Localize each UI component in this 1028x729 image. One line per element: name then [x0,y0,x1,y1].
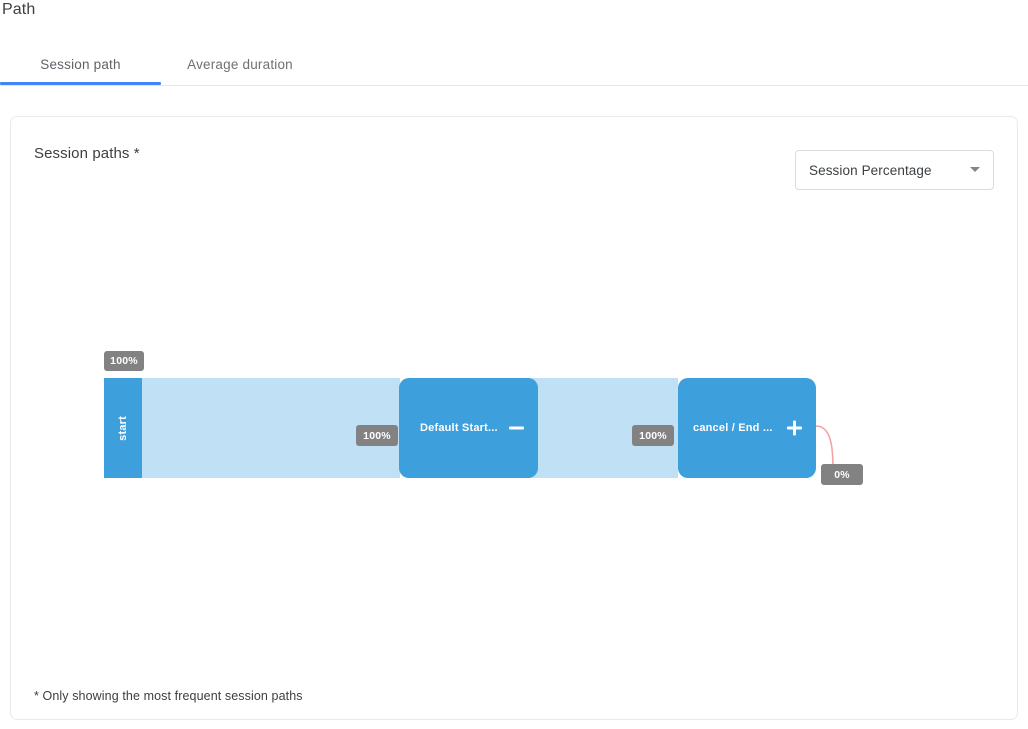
tab-active-indicator [0,82,161,85]
session-path-sankey: start 100% Default Start... 100% cancel … [11,117,1019,721]
tab-session-path[interactable]: Session path [0,44,161,85]
page-title: Path [2,1,35,19]
tab-average-duration-label: Average duration [187,57,293,72]
session-paths-card: Session paths * Session Percentage start… [10,116,1018,720]
card-footnote: * Only showing the most frequent session… [34,689,303,703]
path-report-page: Path Session path Average duration Sessi… [0,0,1028,729]
badge-exit-drop: 0% [821,464,863,485]
tab-session-path-label: Session path [40,57,120,72]
tab-bar: Session path Average duration [0,44,1028,86]
exit-flow-curve [11,117,1019,721]
tab-average-duration[interactable]: Average duration [161,44,319,85]
